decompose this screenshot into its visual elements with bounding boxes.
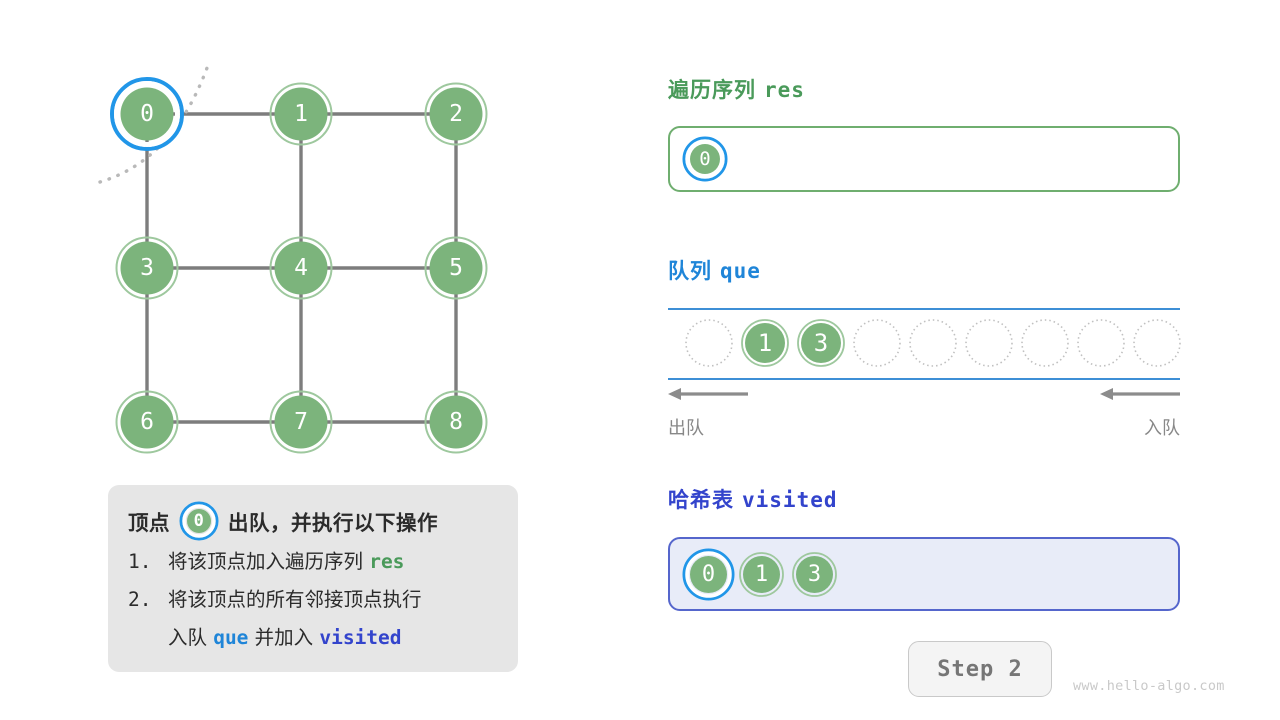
queue-item-filled[interactable]: 3 (793, 315, 849, 371)
queue-item-empty[interactable] (1129, 315, 1185, 371)
enqueue-label: 入队 (1144, 414, 1180, 440)
dequeue-arrow-icon (668, 388, 748, 400)
graph-node-6[interactable]: 6 (117, 392, 178, 453)
step-badge-label: Step 2 (937, 657, 1022, 682)
res-section-title: 遍历序列res (668, 74, 805, 104)
chip-label: 3 (808, 562, 821, 587)
caption-step-text: 入队 que 并加入 visited (168, 619, 498, 657)
watermark-text: www.hello-algo.com (1073, 678, 1225, 694)
graph-svg: 012345678 (0, 0, 620, 480)
graph-nodes: 012345678 (112, 79, 487, 453)
node-label: 4 (294, 255, 308, 281)
queue-item-empty[interactable] (681, 315, 737, 371)
caption-step-text: 将该顶点加入遍历序列 res (168, 543, 498, 581)
caption-plain-text: 将该顶点的所有邻接顶点执行 (168, 588, 422, 611)
node-label: 5 (449, 255, 463, 281)
enqueue-arrow-icon (1100, 388, 1180, 400)
caption-plain-text: 并加入 (248, 626, 319, 649)
caption-step-line: 2.将该顶点的所有邻接顶点执行 (128, 581, 498, 619)
caption-step-number: 2. (128, 581, 168, 619)
queue-title-cn: 队列 (668, 259, 712, 283)
graph-node-3[interactable]: 3 (117, 238, 178, 299)
queue-direction-arrows (668, 386, 1180, 402)
chip-label: 0 (194, 511, 205, 531)
caption-heading-suffix: 出队，并执行以下操作 (228, 506, 438, 536)
res-container (668, 126, 1180, 192)
graph-node-1[interactable]: 1 (271, 84, 332, 145)
caption-code-que: que (213, 626, 248, 649)
caption-plain-text: 将该顶点加入遍历序列 (168, 550, 369, 573)
visited-section-title: 哈希表visited (668, 484, 838, 514)
caption-vertex-chip: 0 (179, 501, 219, 541)
queue-title-code: que (720, 259, 761, 283)
illustration-canvas: 012345678 顶点 0 出队，并执行以下操作 1.将该顶点加入遍历序列 r… (0, 0, 1280, 720)
empty-slot-circle (910, 320, 956, 366)
visited-items: 013 (682, 546, 841, 602)
caption-code-res: res (369, 550, 404, 573)
state-panel: 遍历序列res 0 队列que 13 出队 入队 (660, 0, 1280, 720)
caption-step-text: 将该顶点的所有邻接顶点执行 (168, 581, 498, 619)
chip-label: 0 (702, 562, 715, 587)
queue-top-rule (668, 308, 1180, 310)
chip-label: 0 (699, 148, 710, 170)
queue-section-title: 队列que (668, 255, 761, 285)
queue-item-filled[interactable]: 1 (737, 315, 793, 371)
chip-label: 1 (758, 329, 772, 357)
node-label: 6 (140, 409, 154, 435)
queue-slots: 13 (681, 315, 1185, 371)
empty-slot-circle (854, 320, 900, 366)
graph-node-0[interactable]: 0 (112, 79, 182, 149)
node-label: 0 (140, 101, 154, 127)
empty-slot-circle (1078, 320, 1124, 366)
caption-heading-prefix: 顶点 (128, 506, 170, 536)
caption-step-line: 1.将该顶点加入遍历序列 res (128, 543, 498, 581)
visited-item[interactable]: 0 (682, 548, 735, 601)
caption-vertex-chip-circle[interactable]: 0 (179, 501, 219, 541)
dequeue-label: 出队 (668, 414, 704, 440)
visited-title-cn: 哈希表 (668, 488, 734, 512)
queue-item-empty[interactable] (1017, 315, 1073, 371)
empty-slot-circle (1134, 320, 1180, 366)
node-label: 7 (294, 409, 308, 435)
caption-box: 顶点 0 出队，并执行以下操作 1.将该顶点加入遍历序列 res2.将该顶点的所… (108, 485, 518, 672)
caption-step-list: 1.将该顶点加入遍历序列 res2.将该顶点的所有邻接顶点执行入队 que 并加… (128, 543, 498, 657)
graph-node-2[interactable]: 2 (426, 84, 487, 145)
node-label: 3 (140, 255, 154, 281)
caption-plain-text: 入队 (168, 626, 213, 649)
graph-node-4[interactable]: 4 (271, 238, 332, 299)
visited-item[interactable]: 1 (735, 548, 788, 601)
chip-label: 1 (755, 562, 768, 587)
queue-direction-labels: 出队 入队 (668, 414, 1180, 440)
graph-node-5[interactable]: 5 (426, 238, 487, 299)
empty-slot-circle (1022, 320, 1068, 366)
node-label: 2 (449, 101, 463, 127)
watermark: www.hello-algo.com (1073, 678, 1225, 694)
empty-slot-circle (686, 320, 732, 366)
res-title-code: res (764, 78, 805, 102)
caption-step-number: 1. (128, 543, 168, 581)
queue-container: 13 (668, 308, 1180, 380)
res-item[interactable]: 0 (682, 136, 728, 182)
caption-step-number (128, 619, 168, 657)
queue-item-empty[interactable] (849, 315, 905, 371)
empty-slot-circle (966, 320, 1012, 366)
caption-step-line: 入队 que 并加入 visited (128, 619, 498, 657)
caption-heading: 顶点 0 出队，并执行以下操作 (128, 499, 498, 543)
queue-item-empty[interactable] (1073, 315, 1129, 371)
graph-node-8[interactable]: 8 (426, 392, 487, 453)
res-items: 0 (682, 134, 728, 184)
step-badge: Step 2 (908, 641, 1052, 697)
graph-node-7[interactable]: 7 (271, 392, 332, 453)
queue-item-empty[interactable] (961, 315, 1017, 371)
res-title-cn: 遍历序列 (668, 78, 756, 102)
caption-code-visited: visited (319, 626, 401, 649)
queue-item-empty[interactable] (905, 315, 961, 371)
node-label: 8 (449, 409, 463, 435)
queue-bottom-rule (668, 378, 1180, 380)
visited-title-code: visited (742, 488, 838, 512)
node-label: 1 (294, 101, 308, 127)
chip-label: 3 (814, 329, 828, 357)
visited-item[interactable]: 3 (788, 548, 841, 601)
